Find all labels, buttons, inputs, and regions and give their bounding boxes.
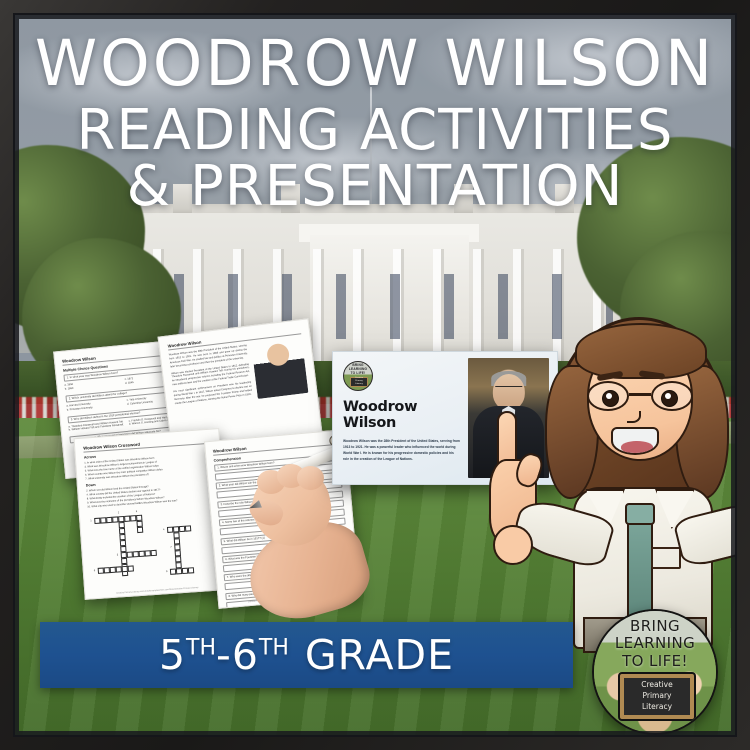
passage-text-column: Woodrow Wilson was the 28th President of… (169, 344, 254, 409)
wilson-portrait-photo (468, 358, 549, 478)
grade-dash: -6 (216, 631, 259, 679)
badge-tagline-line-3: TO LIFE! (594, 653, 716, 670)
chimney (555, 184, 574, 214)
badge-chalk-line-1: Creative (641, 680, 672, 691)
cover-inner-frame: WOODROW WILSON READING ACTIVITIES & PRES… (13, 13, 737, 737)
grade-level-text: 5TH-6THGRADE (159, 631, 454, 679)
flagpole (370, 87, 372, 217)
badge-tagline: BRING LEARNING TO LIFE! (594, 618, 716, 670)
slide-left-column: BRING LEARNING TO LIFE! Creative Primary… (333, 352, 468, 484)
grade-level-banner: 5TH-6THGRADE (40, 622, 573, 688)
slide-body-text: Woodrow Wilson was the 28th President of… (343, 438, 460, 462)
chalk-line-3: Literacy (355, 383, 363, 386)
badge-chalk-line-2: Primary (643, 691, 672, 702)
product-cover: WOODROW WILSON READING ACTIVITIES & PRES… (0, 0, 750, 750)
grade-ordinal-1: TH (186, 635, 216, 660)
grade-prefix: 5 (159, 631, 186, 679)
slide-logo-chalkboard: Creative Primary Literacy (350, 377, 368, 387)
chimney (454, 184, 473, 214)
chimney (173, 184, 192, 214)
grade-ordinal-2: TH (259, 635, 289, 660)
slide-logo-line-3: TO LIFE! (351, 372, 366, 376)
slide-right-column (468, 352, 557, 484)
bring-learning-to-life-logo: BRING LEARNING TO LIFE! Creative Primary… (343, 361, 373, 391)
badge-tagline-line-2: LEARNING (594, 635, 716, 652)
portrait-head (492, 374, 524, 410)
crossword-grid: 1 2 5 3 (88, 505, 221, 588)
presentation-slide-preview: BRING LEARNING TO LIFE! Creative Primary… (332, 351, 558, 485)
slide-heading: Woodrow Wilson (343, 399, 460, 431)
wilson-cartoon-illustration (251, 337, 308, 398)
badge-tagline-line-1: BRING (594, 618, 716, 635)
cloud-shape (159, 116, 505, 202)
badge-chalkboard: Creative Primary Literacy (620, 674, 694, 719)
badge-chalk-line-3: Literacy (642, 702, 672, 713)
grade-suffix: GRADE (305, 631, 454, 679)
brand-badge-bring-learning-to-life: BRING LEARNING TO LIFE! Creative Primary… (592, 609, 718, 735)
portrait-glasses-icon (495, 386, 522, 392)
chimney (281, 184, 300, 214)
